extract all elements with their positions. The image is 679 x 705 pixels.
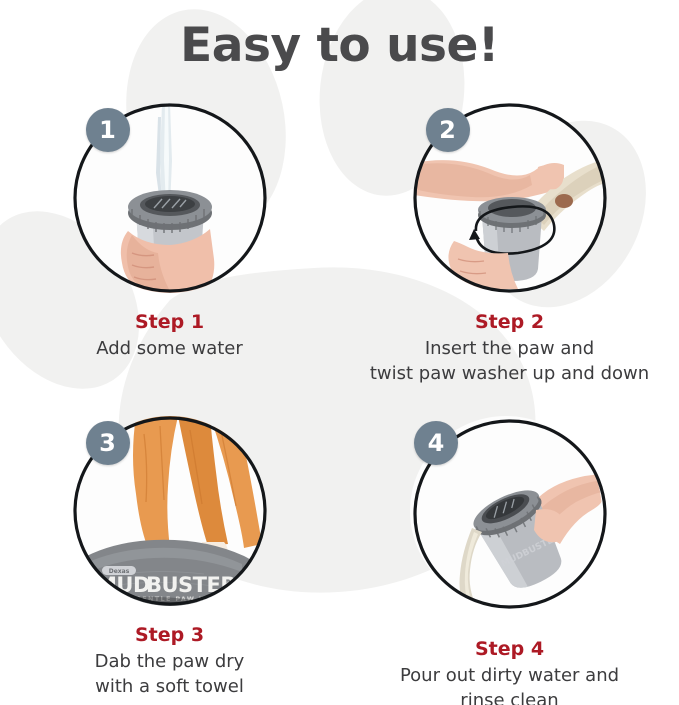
- step-3-description: Dab the paw dry with a soft towel: [0, 647, 339, 699]
- step-1-line-1: Add some water: [0, 336, 339, 361]
- svg-text:™: ™: [224, 581, 230, 588]
- svg-text:BUSTER: BUSTER: [146, 573, 236, 597]
- step-4-line-1: Pour out dirty water and: [340, 663, 679, 688]
- infographic-root: Easy to use!: [0, 0, 679, 705]
- step-3-photo: Dexas MUD BUSTER ™ THE GENTLE PAW WASH 3: [70, 413, 270, 609]
- step-badge-4: 4: [414, 421, 458, 465]
- step-1-description: Add some water: [0, 334, 339, 361]
- step-1-photo: 1: [70, 100, 270, 296]
- step-3-line-2: with a soft towel: [0, 674, 339, 699]
- step-2-description: Insert the paw and twist paw washer up a…: [340, 334, 679, 386]
- step-3-caption: Step 3 Dab the paw dry with a soft towel: [0, 623, 339, 699]
- steps-grid: 1 Step 1 Add some water: [0, 100, 679, 705]
- step-2-line-1: Insert the paw and: [340, 336, 679, 361]
- step-1-label: Step 1: [0, 310, 339, 334]
- step-card-1: 1 Step 1 Add some water: [0, 100, 339, 402]
- svg-text:MUD: MUD: [96, 573, 150, 597]
- step-card-4: MUDBUSTER 4 Step 4 Pour ou: [340, 413, 679, 705]
- step-2-line-2: twist paw washer up and down: [340, 361, 679, 386]
- step-3-line-1: Dab the paw dry: [0, 649, 339, 674]
- step-4-line-2: rinse clean: [340, 688, 679, 705]
- step-badge-3: 3: [86, 421, 130, 465]
- step-1-caption: Step 1 Add some water: [0, 310, 339, 361]
- step-2-photo: 2: [410, 100, 610, 296]
- step-2-label: Step 2: [340, 310, 679, 334]
- step-4-label: Step 4: [340, 637, 679, 661]
- step-badge-1: 1: [86, 108, 130, 152]
- step-3-label: Step 3: [0, 623, 339, 647]
- step-4-caption: Step 4 Pour out dirty water and rinse cl…: [340, 637, 679, 705]
- step-badge-2: 2: [426, 108, 470, 152]
- step-2-caption: Step 2 Insert the paw and twist paw wash…: [340, 310, 679, 386]
- step-4-description: Pour out dirty water and rinse clean: [340, 661, 679, 705]
- step-card-3: Dexas MUD BUSTER ™ THE GENTLE PAW WASH 3: [0, 413, 339, 705]
- page-title: Easy to use!: [0, 18, 679, 73]
- step-card-2: 2 Step 2 Insert the paw and twist paw wa…: [340, 100, 679, 402]
